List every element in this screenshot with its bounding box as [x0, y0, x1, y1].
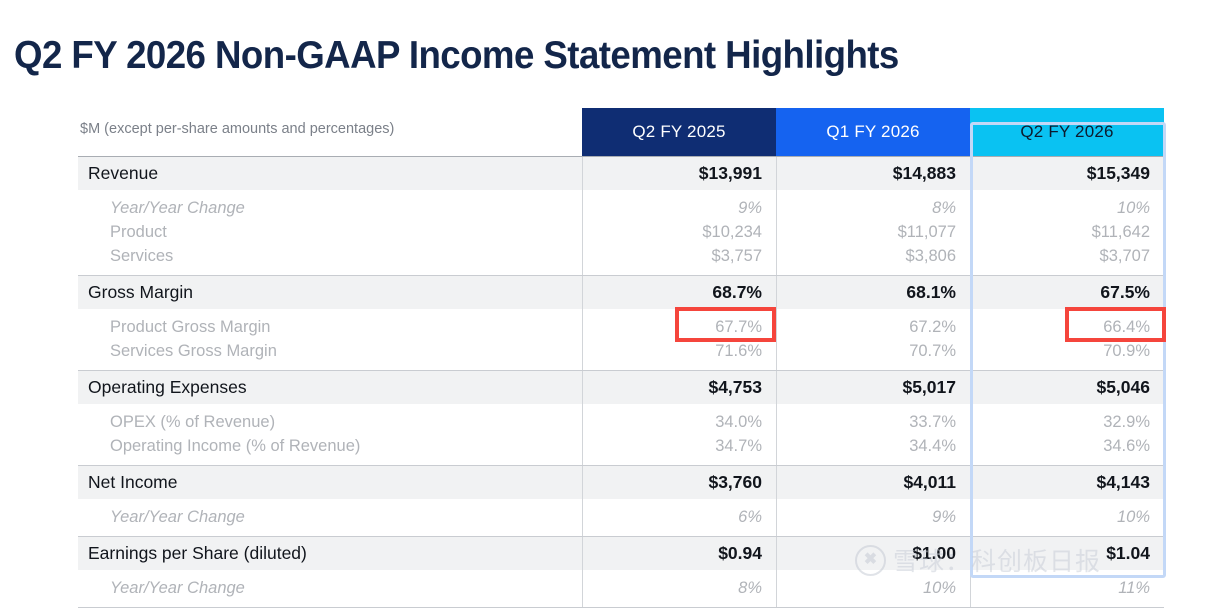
table-header-row: $M (except per-share amounts and percent… — [78, 108, 1164, 157]
cell-opex-pct-q2fy2025: 34.0% — [582, 404, 776, 434]
cell-product-gross-margin-q2fy2026: 66.4% — [970, 309, 1164, 339]
cell-gross-margin-q2fy2025: 68.7% — [582, 276, 776, 310]
cell-net-income-q2fy2026: $4,143 — [970, 466, 1164, 500]
cell-revenue-yoy-q2fy2025: 9% — [582, 190, 776, 220]
cell-services-q2fy2025: $3,757 — [582, 244, 776, 276]
cell-services-q1fy2026: $3,806 — [776, 244, 970, 276]
cell-product-q2fy2026: $11,642 — [970, 220, 1164, 244]
cell-services-gross-margin-q2fy2026: 70.9% — [970, 339, 1164, 371]
row-label-product-gross-margin: Product Gross Margin — [78, 309, 582, 339]
cell-revenue-q1fy2026: $14,883 — [776, 157, 970, 191]
table-row: Year/Year Change 8% 10% 11% — [78, 570, 1164, 608]
cell-revenue-yoy-q2fy2026: 10% — [970, 190, 1164, 220]
cell-op-income-pct-q1fy2026: 34.4% — [776, 434, 970, 466]
income-statement-table-wrap: $M (except per-share amounts and percent… — [78, 108, 1164, 580]
table-row: Gross Margin 68.7% 68.1% 67.5% — [78, 276, 1164, 310]
table-row: OPEX (% of Revenue) 34.0% 33.7% 32.9% — [78, 404, 1164, 434]
cell-eps-q1fy2026: $1.00 — [776, 537, 970, 571]
income-statement-table: $M (except per-share amounts and percent… — [78, 108, 1164, 608]
table-row: Year/Year Change 6% 9% 10% — [78, 499, 1164, 537]
table-row: Product Gross Margin 67.7% 67.2% 66.4% — [78, 309, 1164, 339]
cell-op-income-pct-q2fy2026: 34.6% — [970, 434, 1164, 466]
cell-opex-q2fy2026: $5,046 — [970, 371, 1164, 405]
cell-net-income-yoy-q1fy2026: 9% — [776, 499, 970, 537]
row-label-opex-pct-revenue: OPEX (% of Revenue) — [78, 404, 582, 434]
table-row: Services $3,757 $3,806 $3,707 — [78, 244, 1164, 276]
cell-op-income-pct-q2fy2025: 34.7% — [582, 434, 776, 466]
table-row: Product $10,234 $11,077 $11,642 — [78, 220, 1164, 244]
cell-product-q1fy2026: $11,077 — [776, 220, 970, 244]
cell-product-q2fy2025: $10,234 — [582, 220, 776, 244]
cell-revenue-q2fy2025: $13,991 — [582, 157, 776, 191]
cell-eps-yoy-q1fy2026: 10% — [776, 570, 970, 608]
cell-eps-yoy-q2fy2026: 11% — [970, 570, 1164, 608]
column-header-q2-fy-2025[interactable]: Q2 FY 2025 — [582, 108, 776, 157]
cell-eps-q2fy2026: $1.04 — [970, 537, 1164, 571]
row-label-gross-margin: Gross Margin — [78, 276, 582, 310]
cell-revenue-q2fy2026: $15,349 — [970, 157, 1164, 191]
cell-services-q2fy2026: $3,707 — [970, 244, 1164, 276]
row-label-operating-income-pct-revenue: Operating Income (% of Revenue) — [78, 434, 582, 466]
cell-services-gross-margin-q1fy2026: 70.7% — [776, 339, 970, 371]
cell-gross-margin-q1fy2026: 68.1% — [776, 276, 970, 310]
row-label-services: Services — [78, 244, 582, 276]
cell-net-income-yoy-q2fy2025: 6% — [582, 499, 776, 537]
cell-services-gross-margin-q2fy2025: 71.6% — [582, 339, 776, 371]
row-label-revenue: Revenue — [78, 157, 582, 191]
cell-eps-yoy-q2fy2025: 8% — [582, 570, 776, 608]
cell-opex-pct-q2fy2026: 32.9% — [970, 404, 1164, 434]
row-label-eps-diluted: Earnings per Share (diluted) — [78, 537, 582, 571]
table-row: Operating Expenses $4,753 $5,017 $5,046 — [78, 371, 1164, 405]
cell-product-gross-margin-q2fy2025: 67.7% — [582, 309, 776, 339]
row-label-eps-yoy: Year/Year Change — [78, 570, 582, 608]
table-caption: $M (except per-share amounts and percent… — [78, 108, 582, 157]
row-label-net-income: Net Income — [78, 466, 582, 500]
table-row: Revenue $13,991 $14,883 $15,349 — [78, 157, 1164, 191]
table-row: Services Gross Margin 71.6% 70.7% 70.9% — [78, 339, 1164, 371]
cell-net-income-q1fy2026: $4,011 — [776, 466, 970, 500]
table-row: Net Income $3,760 $4,011 $4,143 — [78, 466, 1164, 500]
table-body: Revenue $13,991 $14,883 $15,349 Year/Yea… — [78, 157, 1164, 608]
row-label-revenue-yoy: Year/Year Change — [78, 190, 582, 220]
cell-net-income-q2fy2025: $3,760 — [582, 466, 776, 500]
cell-gross-margin-q2fy2026: 67.5% — [970, 276, 1164, 310]
cell-eps-q2fy2025: $0.94 — [582, 537, 776, 571]
row-label-net-income-yoy: Year/Year Change — [78, 499, 582, 537]
row-label-services-gross-margin: Services Gross Margin — [78, 339, 582, 371]
column-header-q2-fy-2026[interactable]: Q2 FY 2026 — [970, 108, 1164, 157]
cell-product-gross-margin-q1fy2026: 67.2% — [776, 309, 970, 339]
cell-net-income-yoy-q2fy2026: 10% — [970, 499, 1164, 537]
table-row: Earnings per Share (diluted) $0.94 $1.00… — [78, 537, 1164, 571]
table-row: Operating Income (% of Revenue) 34.7% 34… — [78, 434, 1164, 466]
cell-opex-pct-q1fy2026: 33.7% — [776, 404, 970, 434]
row-label-product: Product — [78, 220, 582, 244]
row-label-operating-expenses: Operating Expenses — [78, 371, 582, 405]
cell-revenue-yoy-q1fy2026: 8% — [776, 190, 970, 220]
column-header-q1-fy-2026[interactable]: Q1 FY 2026 — [776, 108, 970, 157]
cell-opex-q1fy2026: $5,017 — [776, 371, 970, 405]
cell-opex-q2fy2025: $4,753 — [582, 371, 776, 405]
page-title: Q2 FY 2026 Non-GAAP Income Statement Hig… — [14, 34, 899, 78]
table-row: Year/Year Change 9% 8% 10% — [78, 190, 1164, 220]
